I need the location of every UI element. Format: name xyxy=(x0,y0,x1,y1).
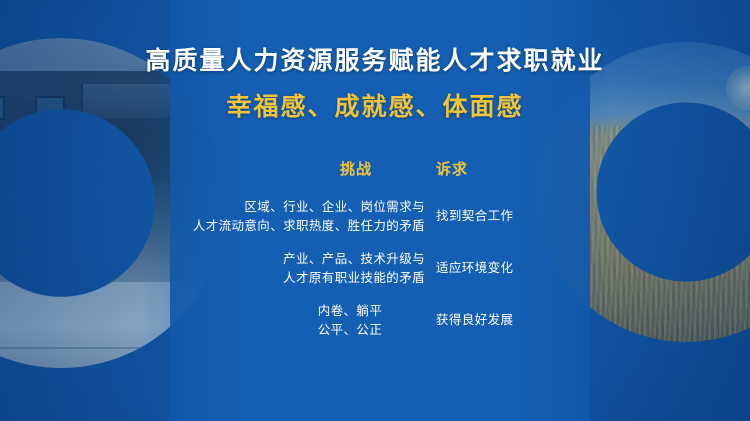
person-body-shape xyxy=(35,169,66,241)
column-header-challenge: 挑战 xyxy=(340,158,372,179)
platform-line-shape xyxy=(0,347,226,349)
demand-text-2: 适应环境变化 xyxy=(436,259,513,278)
title-block: 高质量人力资源服务赋能人才求职就业 幸福感、成就感、体面感 xyxy=(0,44,750,124)
content-row: 内卷、躺平 公平、公正 获得良好发展 xyxy=(150,302,600,338)
challenge-text-1-line1: 区域、行业、企业、岗位需求与 xyxy=(165,198,425,217)
challenge-text-3-line1: 内卷、躺平 xyxy=(275,302,425,321)
challenge-text-3: 内卷、躺平 公平、公正 xyxy=(275,302,425,340)
content-area: 挑战 诉求 区域、行业、企业、岗位需求与 人才流动意向、求职热度、胜任力的矛盾 … xyxy=(150,158,600,338)
content-row: 产业、产品、技术升级与 人才原有职业技能的矛盾 适应环境变化 xyxy=(150,250,600,286)
demand-text-1: 找到契合工作 xyxy=(436,207,513,226)
title-primary: 高质量人力资源服务赋能人才求职就业 xyxy=(0,44,750,78)
column-header-demand: 诉求 xyxy=(436,158,468,179)
challenge-text-2-line1: 产业、产品、技术升级与 xyxy=(165,250,425,269)
challenge-text-2-line2: 人才原有职业技能的矛盾 xyxy=(165,269,425,288)
box-tape-shape xyxy=(21,149,67,162)
slide-canvas: 9 高质量人力资源服务赋能人才求职就业 幸福感、成就感、体面感 挑战 xyxy=(0,0,750,421)
challenge-text-1-line2: 人才流动意向、求职热度、胜任力的矛盾 xyxy=(165,217,425,236)
challenge-text-3-line2: 公平、公正 xyxy=(275,321,425,340)
column-headers: 挑战 诉求 xyxy=(150,158,600,182)
challenge-text-1: 区域、行业、企业、岗位需求与 人才流动意向、求职热度、胜任力的矛盾 xyxy=(165,198,425,236)
content-row: 区域、行业、企业、岗位需求与 人才流动意向、求职热度、胜任力的矛盾 找到契合工作 xyxy=(150,198,600,234)
demand-text-3: 获得良好发展 xyxy=(436,311,513,330)
challenge-text-2: 产业、产品、技术升级与 人才原有职业技能的矛盾 xyxy=(165,250,425,288)
title-secondary: 幸福感、成就感、体面感 xyxy=(0,90,750,124)
